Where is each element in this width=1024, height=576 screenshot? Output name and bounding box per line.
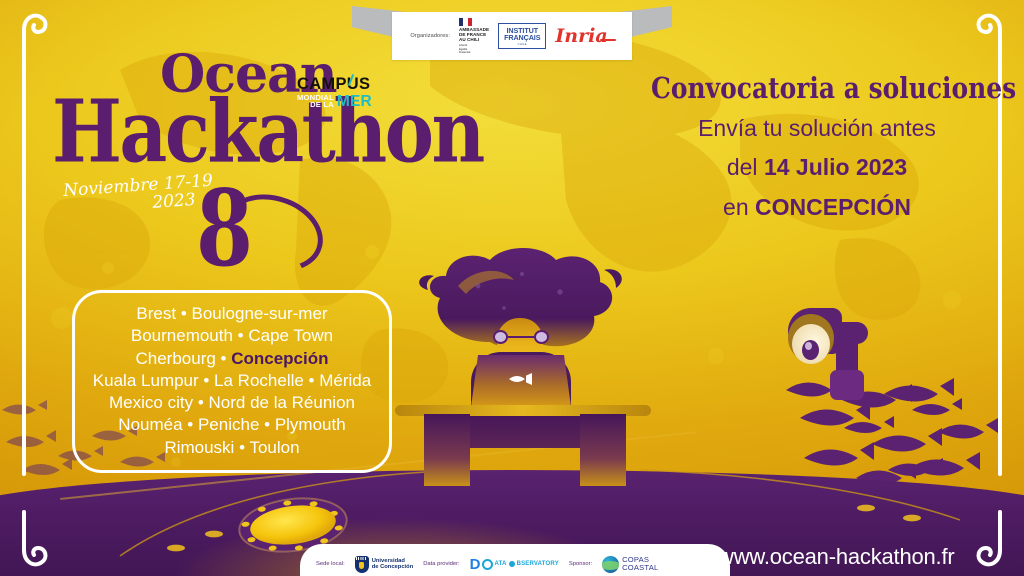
cities-row: Rimouski • Toulon xyxy=(83,437,381,459)
sponsor-label: Sponsor: xyxy=(569,561,592,567)
cities-separator: • xyxy=(234,438,249,457)
city-name: Brest xyxy=(136,304,176,323)
cities-row: Bournemouth • Cape Town xyxy=(83,325,381,347)
desk-leg-right xyxy=(580,414,626,486)
city-name: Nord de la Réunion xyxy=(209,393,355,412)
data-observatory-ring-icon xyxy=(482,559,493,570)
city-name: Nouméa xyxy=(118,415,182,434)
desk-leg-left xyxy=(424,414,470,486)
french-flag-icon xyxy=(459,18,472,26)
city-name: Toulon xyxy=(249,438,299,457)
logo-campus-mondial-de-la-mer: CAMPUS MONDIAL DE LA MER xyxy=(297,76,389,109)
periscope-lens xyxy=(792,324,830,364)
cities-separator: • xyxy=(193,393,208,412)
institut-line-2: FRANÇAIS xyxy=(504,34,540,41)
copas-wave-icon xyxy=(602,556,619,573)
cities-separator: • xyxy=(233,326,248,345)
website-url[interactable]: www.ocean-hackathon.fr xyxy=(718,544,955,570)
periscope-head xyxy=(788,308,842,354)
cities-row: Brest • Boulogne-sur-mer xyxy=(83,303,381,325)
periscope-collar xyxy=(830,370,864,400)
campus-wordmark: CAMPUS xyxy=(297,76,389,93)
logo-institut-francais: INSTITUT FRANÇAIS CHILE xyxy=(498,23,546,49)
call-line-2: del 14 Julio 2023 xyxy=(624,153,1010,183)
cities-row: Mexico city • Nord de la Réunion xyxy=(83,392,381,414)
data-observatory-text: ATA xyxy=(495,561,507,567)
cities-list: Brest • Boulogne-sur-merBournemouth • Ca… xyxy=(72,290,392,473)
poster-canvas: Organizadores: AMBASSADE DE FRANCE AU CH… xyxy=(0,0,1024,576)
city-name: Rimouski xyxy=(164,438,234,457)
call-heading: Convocatoria a soluciones xyxy=(651,74,983,104)
cities-row: Cherbourg • Concepción xyxy=(83,348,381,370)
logo-ambassade-de-france: AMBASSADE DE FRANCE AU CHILI Liberté Éga… xyxy=(459,18,489,54)
cities-separator: • xyxy=(216,349,231,368)
logo-universidad-de-concepcion: Universidad de Concepción xyxy=(355,556,414,573)
udec-line-2: de Concepción xyxy=(372,564,414,570)
logo-inria: Inria xyxy=(555,27,613,46)
call-line-3-prefix: en xyxy=(723,194,755,220)
city-name: Cape Town xyxy=(248,326,333,345)
glasses-lens-right xyxy=(534,330,549,344)
call-line-1: Envía tu solución antes xyxy=(624,114,1010,144)
city-name: Plymouth xyxy=(275,415,346,434)
city-name: Bournemouth xyxy=(131,326,233,345)
cities-separator: • xyxy=(183,415,198,434)
city-name: Kuala Lumpur xyxy=(93,371,199,390)
glasses-lens-left xyxy=(493,330,508,344)
cities-separator: • xyxy=(176,304,191,323)
data-observatory-dot-icon xyxy=(509,561,515,567)
edition-number: 8 xyxy=(196,186,253,270)
figure-glasses xyxy=(493,330,549,344)
cities-row: Nouméa • Peniche • Plymouth xyxy=(83,414,381,436)
embassy-motto-3: Fraternité xyxy=(459,51,489,54)
city-name: Mérida xyxy=(319,371,371,390)
city-name: La Rochelle xyxy=(214,371,304,390)
data-observatory-text2: BSERVATORY xyxy=(517,561,559,567)
data-provider-label: Data provider: xyxy=(423,561,459,567)
city-name: Cherbourg xyxy=(135,349,215,368)
campus-mer-word: MER xyxy=(337,95,372,109)
periscope-pupil xyxy=(802,340,819,360)
city-name: Boulogne-sur-mer xyxy=(192,304,328,323)
footer-partners-band: Sede local: Universidad de Concepción Da… xyxy=(300,544,730,576)
fish-icon xyxy=(508,373,534,385)
cities-separator: • xyxy=(259,415,274,434)
call-city: CONCEPCIÓN xyxy=(755,194,911,220)
call-line-3: en CONCEPCIÓN xyxy=(624,193,1010,223)
call-line-2-prefix: del xyxy=(727,154,764,180)
copas-line-2: COASTAL xyxy=(622,564,658,572)
campus-sub-line2: DE LA xyxy=(297,101,334,109)
city-name: Concepción xyxy=(231,349,328,368)
data-observatory-d: D xyxy=(470,557,480,572)
udec-shield-icon xyxy=(355,556,369,573)
embassy-line-3: AU CHILI xyxy=(459,37,489,42)
logo-copas-coastal: COPAS COASTAL xyxy=(602,556,658,573)
glasses-bridge xyxy=(507,336,535,338)
institut-sub: CHILE xyxy=(518,43,527,46)
host-label: Sede local: xyxy=(316,561,345,567)
cities-separator: • xyxy=(199,371,214,390)
periscope-ring xyxy=(788,314,834,362)
ribbon-body: Organizadores: AMBASSADE DE FRANCE AU CH… xyxy=(392,12,632,60)
organizers-label: Organizadores: xyxy=(410,33,450,39)
city-name: Peniche xyxy=(198,415,259,434)
city-name: Mexico city xyxy=(109,393,193,412)
call-for-solutions-block: Convocatoria a soluciones Envía tu soluc… xyxy=(624,74,1010,223)
call-deadline-date: 14 Julio 2023 xyxy=(764,154,907,180)
cities-row: Kuala Lumpur • La Rochelle • Mérida xyxy=(83,370,381,392)
logo-data-observatory: D ATA BSERVATORY xyxy=(470,557,559,572)
cities-separator: • xyxy=(304,371,319,390)
